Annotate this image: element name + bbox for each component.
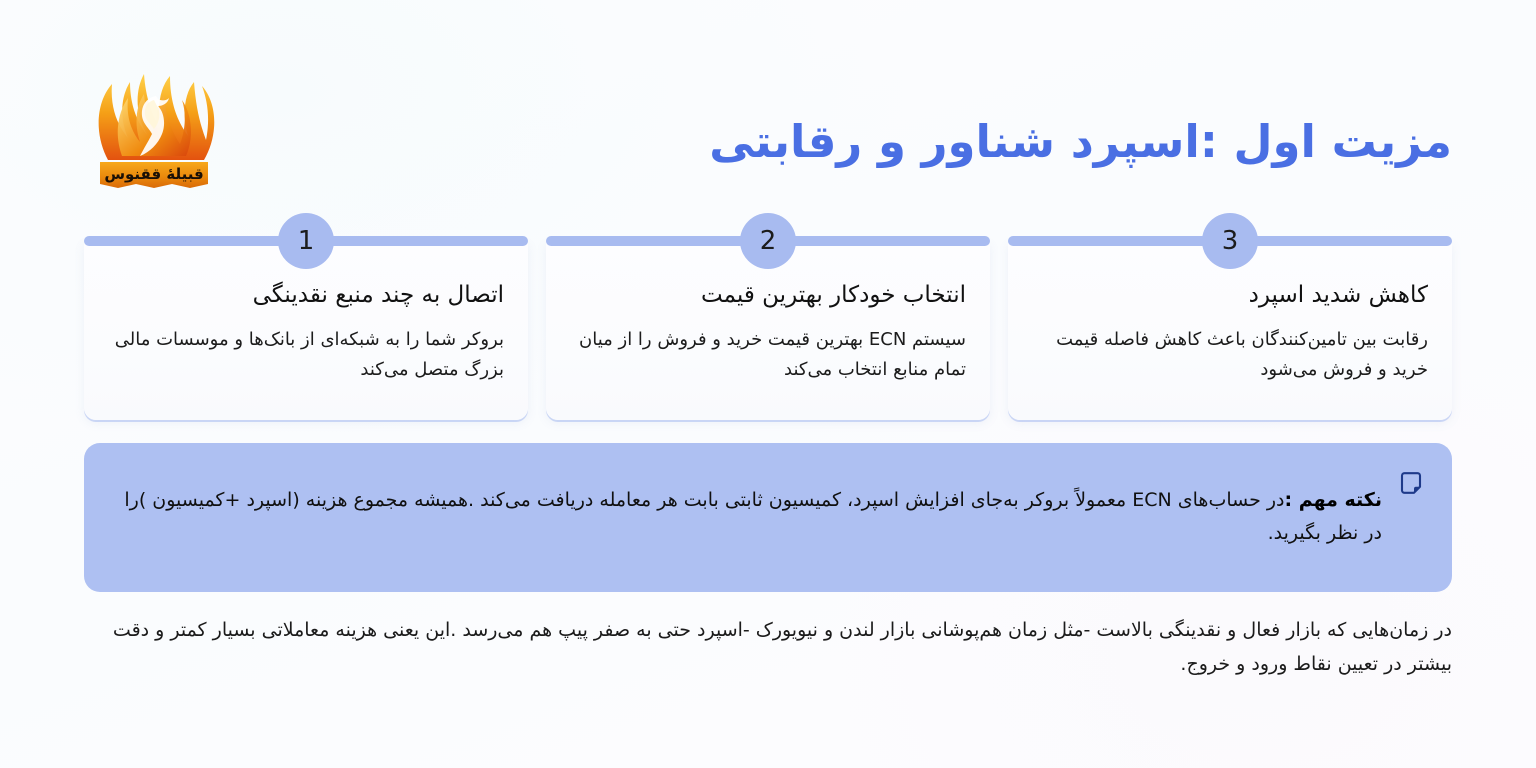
feature-cards-row: 3 کاهش شدید اسپرد رقابت بین تامین‌کنندگا… (84, 236, 1452, 420)
note-label: نکته مهم : (1285, 489, 1383, 511)
card-description: سیستم ECN بهترین قیمت خرید و فروش را از … (570, 325, 966, 384)
logo-wordmark: قبیلهٔ ققنوس (104, 165, 203, 183)
slide-header: قبیلهٔ ققنوس مزیت اول :اسپرد شناور و رقا… (84, 62, 1452, 190)
card-top-bar: 2 (546, 236, 990, 246)
slide-root: قبیلهٔ ققنوس مزیت اول :اسپرد شناور و رقا… (0, 0, 1536, 768)
note-body: در حساب‌های ECN معمولاً بروکر به‌جای افز… (124, 489, 1382, 544)
feature-card-2: 2 انتخاب خودکار بهترین قیمت سیستم ECN به… (546, 236, 990, 420)
card-step-badge: 1 (278, 213, 334, 269)
card-top-bar: 3 (1008, 236, 1452, 246)
bottom-paragraph: در زمان‌هایی که بازار فعال و نقدینگی بال… (84, 613, 1452, 681)
phoenix-tribe-logo: قبیلهٔ ققنوس (84, 62, 224, 188)
card-title: انتخاب خودکار بهترین قیمت (570, 280, 966, 311)
card-title: اتصال به چند منبع نقدینگی (108, 280, 504, 311)
card-description: بروکر شما را به شبکه‌ای از بانک‌ها و موس… (108, 325, 504, 384)
card-step-badge: 2 (740, 213, 796, 269)
sticky-note-icon (1398, 471, 1424, 497)
feature-card-3: 3 کاهش شدید اسپرد رقابت بین تامین‌کنندگا… (1008, 236, 1452, 420)
card-top-bar: 1 (84, 236, 528, 246)
feature-card-1: 1 اتصال به چند منبع نقدینگی بروکر شما را… (84, 236, 528, 420)
page-title: مزیت اول :اسپرد شناور و رقابتی (709, 114, 1452, 170)
card-description: رقابت بین تامین‌کنندگان باعث کاهش فاصله … (1032, 325, 1428, 384)
important-note-callout: نکته مهم :در حساب‌های ECN معمولاً بروکر … (84, 443, 1452, 592)
note-text: نکته مهم :در حساب‌های ECN معمولاً بروکر … (108, 484, 1382, 551)
card-step-badge: 3 (1202, 213, 1258, 269)
card-title: کاهش شدید اسپرد (1032, 280, 1428, 311)
